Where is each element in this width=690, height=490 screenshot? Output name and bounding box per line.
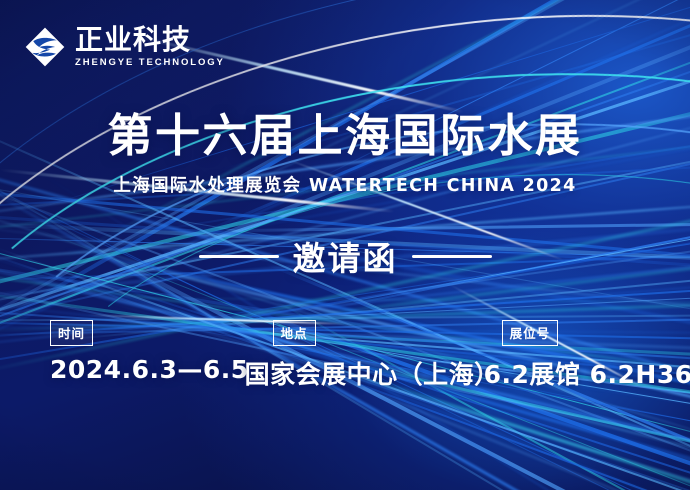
poster-canvas: 正业科技 ZHENGYE TECHNOLOGY 第十六届上海国际水展 上海国际水… [0,0,690,490]
info-item-place: 地点 国家会展中心（上海） [249,320,484,391]
brand-name-cn: 正业科技 [75,26,225,54]
headline-block: 第十六届上海国际水展 上海国际水处理展览会 WATERTECH CHINA 20… [0,112,690,197]
invitation-rule-right [412,255,492,258]
info-item-time: 时间 2024.6.3—6.5 [50,320,249,384]
event-title: 第十六届上海国际水展 [0,112,690,160]
info-value-place: 国家会展中心（上海） [245,355,484,391]
info-value-time: 2024.6.3—6.5 [50,355,249,384]
info-label-place: 地点 [273,320,316,346]
invitation-block: 邀请函 [0,232,690,280]
event-info-row: 时间 2024.6.3—6.5 地点 国家会展中心（上海） 展位号 6.2展馆 … [0,320,690,391]
info-item-booth: 展位号 6.2展馆 6.2H368 [484,320,690,391]
info-label-time: 时间 [50,320,93,346]
invitation-word: 邀请函 [293,232,398,280]
brand-logo-text: 正业科技 ZHENGYE TECHNOLOGY [75,26,225,68]
invitation-rule-left [199,255,279,258]
zhengye-diamond-swirl-logo-icon [24,26,66,68]
info-value-booth: 6.2展馆 6.2H368 [484,355,690,391]
brand-name-en: ZHENGYE TECHNOLOGY [75,58,225,68]
info-label-booth: 展位号 [502,320,559,346]
event-subtitle: 上海国际水处理展览会 WATERTECH CHINA 2024 [0,172,690,197]
brand-logo[interactable]: 正业科技 ZHENGYE TECHNOLOGY [24,26,225,68]
